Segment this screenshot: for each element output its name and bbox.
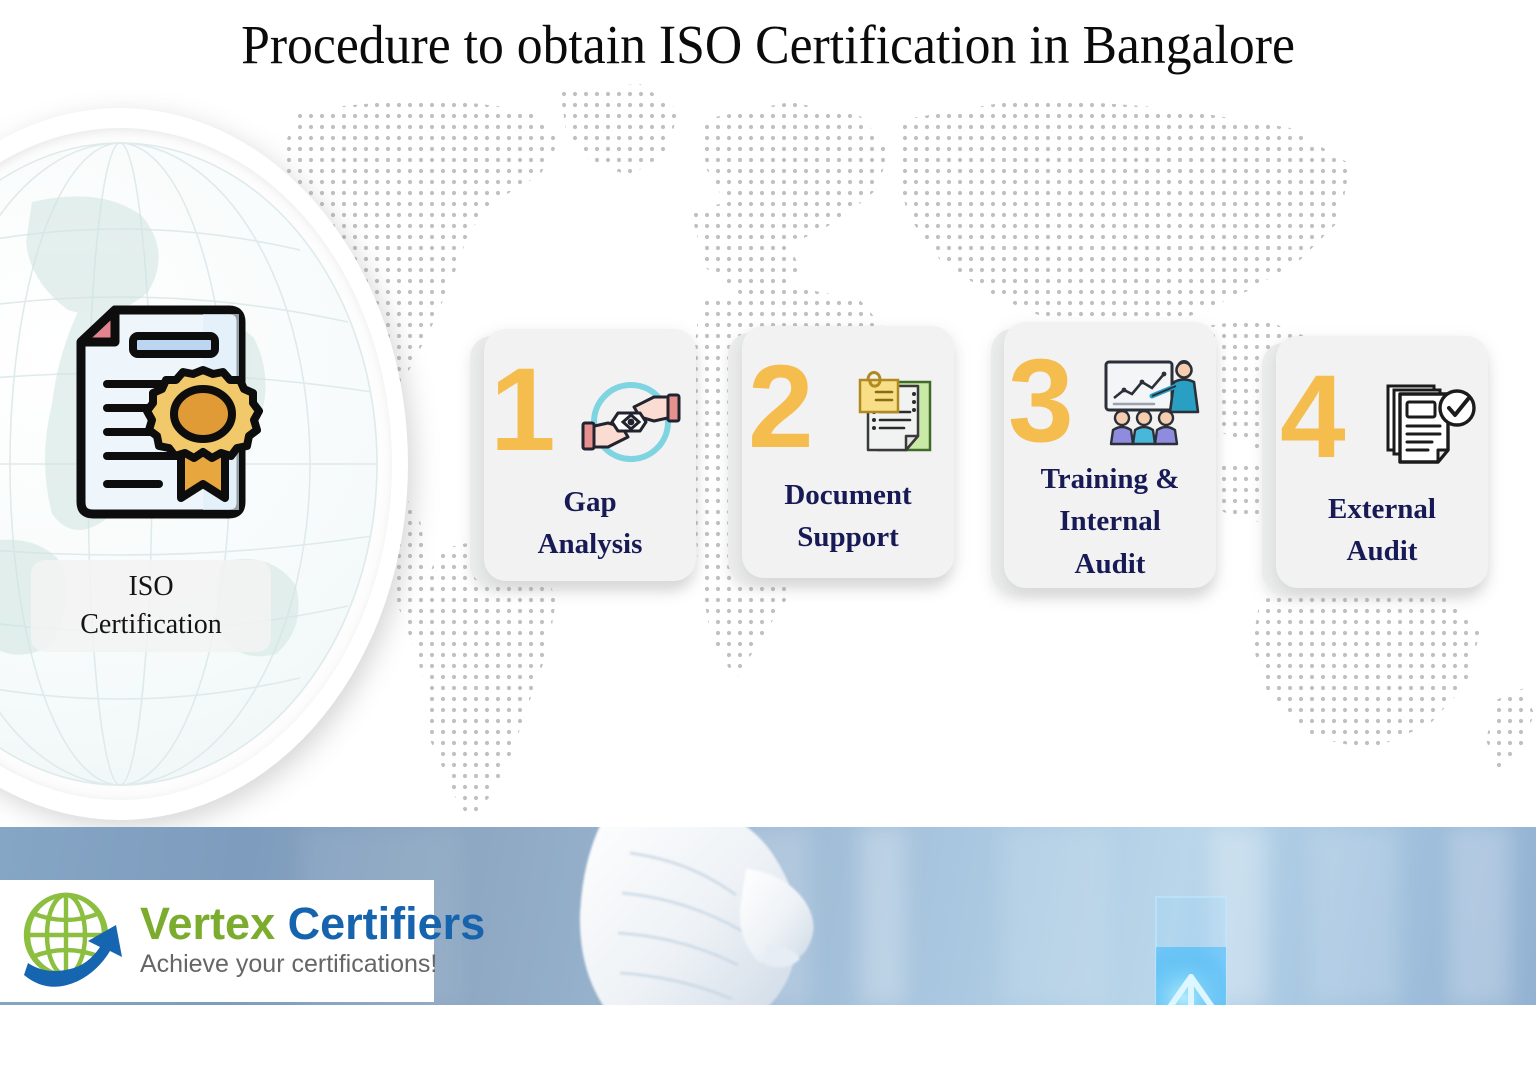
iso-certificate-icon xyxy=(63,302,269,522)
step-card-3[interactable]: 3 xyxy=(1004,322,1216,588)
step-4-label-line2: Audit xyxy=(1276,530,1488,572)
training-presentation-icon xyxy=(1100,356,1202,448)
step-4-number: 4 xyxy=(1280,358,1346,476)
logo-brand-line: Vertex Certifiers xyxy=(140,901,485,947)
iso-label-line2: Certification xyxy=(80,606,222,644)
globe-arrow-logo-icon xyxy=(14,889,136,993)
step-1-label-line1: Gap xyxy=(484,481,696,523)
logo-brand-certifiers: Certifiers xyxy=(288,898,486,949)
step-1-label: Gap Analysis xyxy=(484,481,696,566)
handshake-teamwork-icon xyxy=(580,371,682,473)
logo-text: Vertex Certifiers Achieve your certifica… xyxy=(140,901,485,980)
step-2-label: Document Support xyxy=(742,474,954,559)
iso-certification-label: ISO Certification xyxy=(31,560,271,652)
company-logo[interactable]: Vertex Certifiers Achieve your certifica… xyxy=(0,880,434,1002)
step-4-label-line1: External xyxy=(1276,488,1488,530)
step-3-label-line3: Audit xyxy=(1004,543,1216,585)
step-2-label-line1: Document xyxy=(742,474,954,516)
logo-tagline: Achieve your certifications! xyxy=(140,949,485,980)
audit-checklist-icon xyxy=(1378,374,1478,470)
step-3-label: Training & Internal Audit xyxy=(1004,458,1216,585)
step-2-label-line2: Support xyxy=(742,516,954,558)
step-3-label-line2: Internal xyxy=(1004,500,1216,542)
step-card-1[interactable]: 1 Gap Analysis xyxy=(484,329,696,581)
step-card-2[interactable]: 2 xyxy=(742,326,954,578)
infographic-canvas: Procedure to obtain ISO Certification in… xyxy=(0,0,1536,1086)
step-2-number: 2 xyxy=(748,348,814,466)
step-3-number: 3 xyxy=(1008,342,1074,460)
iso-certification-hero: ISO Certification xyxy=(0,108,408,820)
documents-icon xyxy=(846,364,942,460)
page-title: Procedure to obtain ISO Certification in… xyxy=(46,16,1490,74)
step-1-label-line2: Analysis xyxy=(484,523,696,565)
hand-touching-interface-icon xyxy=(560,827,920,1005)
logo-brand-vertex: Vertex xyxy=(140,898,275,949)
step-1-number: 1 xyxy=(490,351,556,469)
iso-label-line1: ISO xyxy=(128,568,173,606)
step-3-label-line1: Training & xyxy=(1004,458,1216,500)
step-4-label: External Audit xyxy=(1276,488,1488,573)
glowing-touch-button-icon xyxy=(1152,895,1232,1005)
step-card-4[interactable]: 4 xyxy=(1276,336,1488,588)
